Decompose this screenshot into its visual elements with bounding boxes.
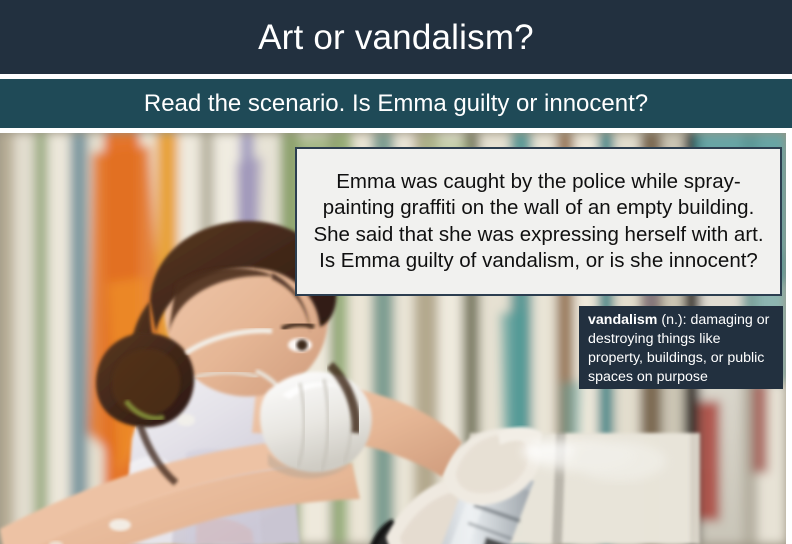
page-title: Art or vandalism? — [258, 20, 534, 55]
scenario-text: Emma was caught by the police while spra… — [309, 169, 768, 273]
instruction-text: Read the scenario. Is Emma guilty or inn… — [144, 92, 648, 116]
scenario-card: Emma was caught by the police while spra… — [295, 147, 782, 296]
definition-text: vandalism (n.): damaging or destroying t… — [588, 311, 775, 387]
definition-card: vandalism (n.): damaging or destroying t… — [579, 306, 783, 389]
slide: Art or vandalism? Read the scenario. Is … — [0, 0, 792, 544]
title-bar: Art or vandalism? — [0, 0, 792, 74]
instruction-bar: Read the scenario. Is Emma guilty or inn… — [0, 79, 792, 128]
definition-term: vandalism — [588, 312, 657, 328]
